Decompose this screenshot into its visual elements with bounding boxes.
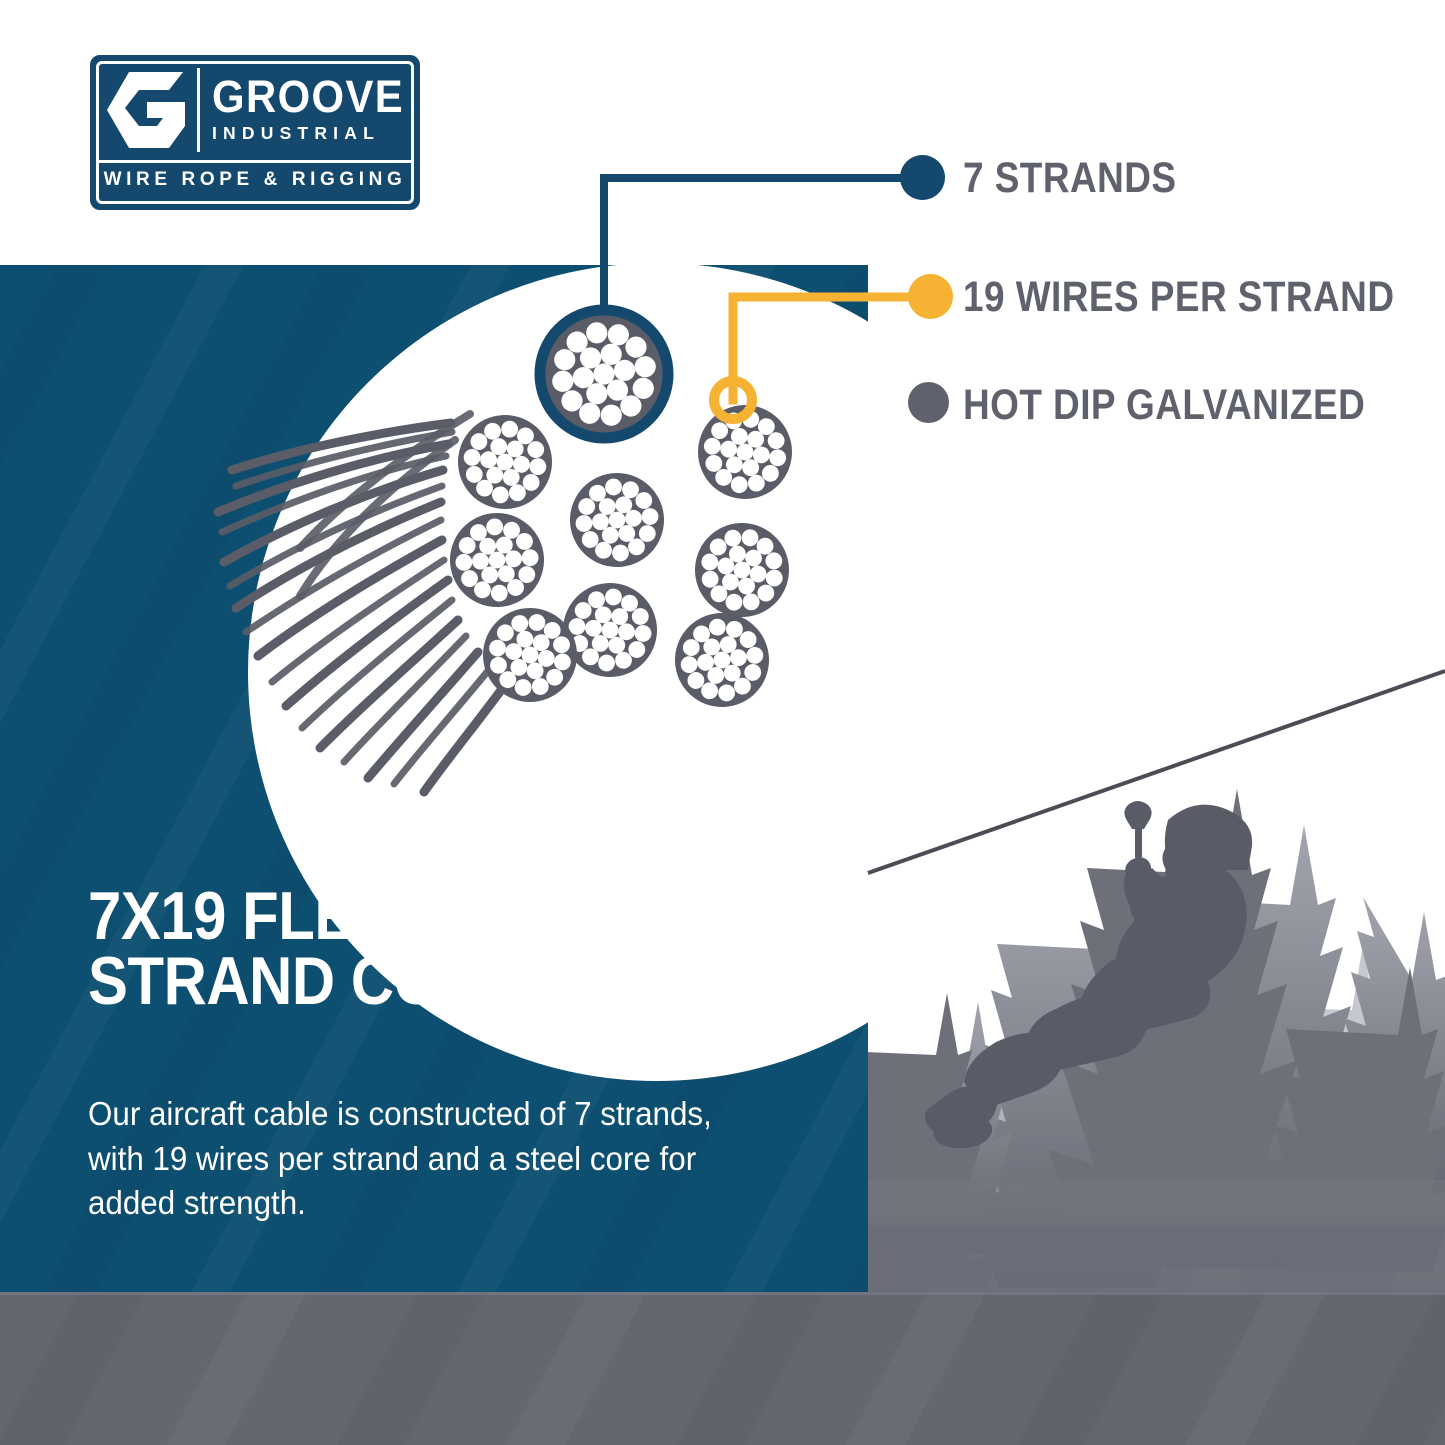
callout-dot-wires xyxy=(908,274,953,319)
logo-name: GROOVE xyxy=(212,76,404,118)
infographic-canvas: GROOVE INDUSTRIAL WIRE ROPE & RIGGING xyxy=(0,0,1445,1445)
zipline-cable xyxy=(868,671,1445,873)
tree-layer-near xyxy=(790,789,1445,1336)
logo-wordmark: GROOVE INDUSTRIAL xyxy=(200,64,419,156)
bottom-band-top-edge xyxy=(0,1292,1445,1295)
headline-line-2: STRAND CONSTRUCTION xyxy=(88,949,739,1014)
callout-dot-galvanized xyxy=(908,382,949,423)
body-copy: Our aircraft cable is constructed of 7 s… xyxy=(88,1092,715,1226)
zipline-rider-silhouette xyxy=(925,801,1252,1148)
logo-rule xyxy=(99,160,411,163)
callout-dot-strands xyxy=(900,155,945,200)
page-title: 7X19 FLEXIBLE STRAND CONSTRUCTION xyxy=(88,884,739,1015)
tree-layer-far xyxy=(945,944,1417,1306)
logo-upper-row: GROOVE INDUSTRIAL xyxy=(99,64,411,156)
logo-tagline: WIRE ROPE & RIGGING xyxy=(99,165,411,195)
forest-fog-band xyxy=(868,1070,1445,1292)
groove-g-hexagon-icon xyxy=(99,64,193,156)
bottom-gray-band xyxy=(0,1292,1445,1445)
bottom-band-stripes xyxy=(0,1292,1445,1445)
callout-label-strands: 7 STRANDS xyxy=(963,154,1176,203)
brand-logo: GROOVE INDUSTRIAL WIRE ROPE & RIGGING xyxy=(90,55,420,210)
headline-line-1: 7X19 FLEXIBLE xyxy=(88,884,739,949)
logo-subname: INDUSTRIAL xyxy=(212,123,419,144)
callout-label-galvanized: HOT DIP GALVANIZED xyxy=(963,381,1365,430)
forest-ground xyxy=(868,1215,1445,1292)
tree-layer-mid xyxy=(856,825,1445,1288)
callout-label-wires: 19 WIRES PER STRAND xyxy=(963,273,1394,322)
